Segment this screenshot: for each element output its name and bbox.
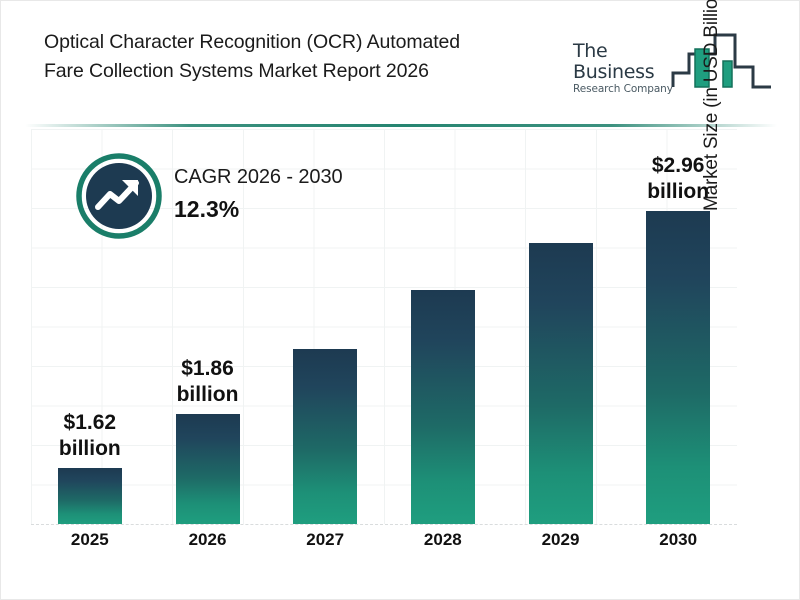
chart-canvas: Optical Character Recognition (OCR) Auto… [0,0,800,600]
x-axis-labels: 202520262027202820292030 [31,530,737,564]
cagr-value: 12.3% [174,193,394,225]
chart-header: Optical Character Recognition (OCR) Auto… [1,1,800,113]
trending-up-icon [76,153,162,239]
bar-value-amount: $1.62 [35,410,145,436]
bar-2028 [411,290,475,524]
bar-value-unit: billion [153,382,263,408]
bar-2025 [58,468,122,524]
y-axis-title: Market Size (in USD Billion) [701,0,723,211]
x-axis-tick-2027: 2027 [270,530,380,550]
page-title-line-2: Fare Collection Systems Market Report 20… [44,57,574,86]
x-axis-tick-2028: 2028 [388,530,498,550]
bar-2026 [176,414,240,524]
company-logo: The Business Research Company [573,29,773,99]
bar-value-label-2025: $1.62billion [35,410,145,462]
header-divider [25,124,777,127]
page-title: Optical Character Recognition (OCR) Auto… [44,28,574,86]
cagr-text-block: CAGR 2026 - 2030 12.3% [174,163,394,225]
bar-value-label-2026: $1.86billion [153,356,263,408]
bar-2030 [646,211,710,524]
bar-2029 [529,243,593,524]
x-axis-tick-2026: 2026 [153,530,263,550]
x-axis-tick-2029: 2029 [506,530,616,550]
axis-baseline [31,524,737,525]
cagr-label: CAGR 2026 - 2030 [174,163,394,191]
page-title-line-1: Optical Character Recognition (OCR) Auto… [44,28,574,57]
x-axis-tick-2030: 2030 [623,530,733,550]
bar-value-amount: $1.86 [153,356,263,382]
cagr-badge: CAGR 2026 - 2030 12.3% [76,153,396,245]
bar-value-unit: billion [35,436,145,462]
bar-2027 [293,349,357,524]
x-axis-tick-2025: 2025 [35,530,145,550]
